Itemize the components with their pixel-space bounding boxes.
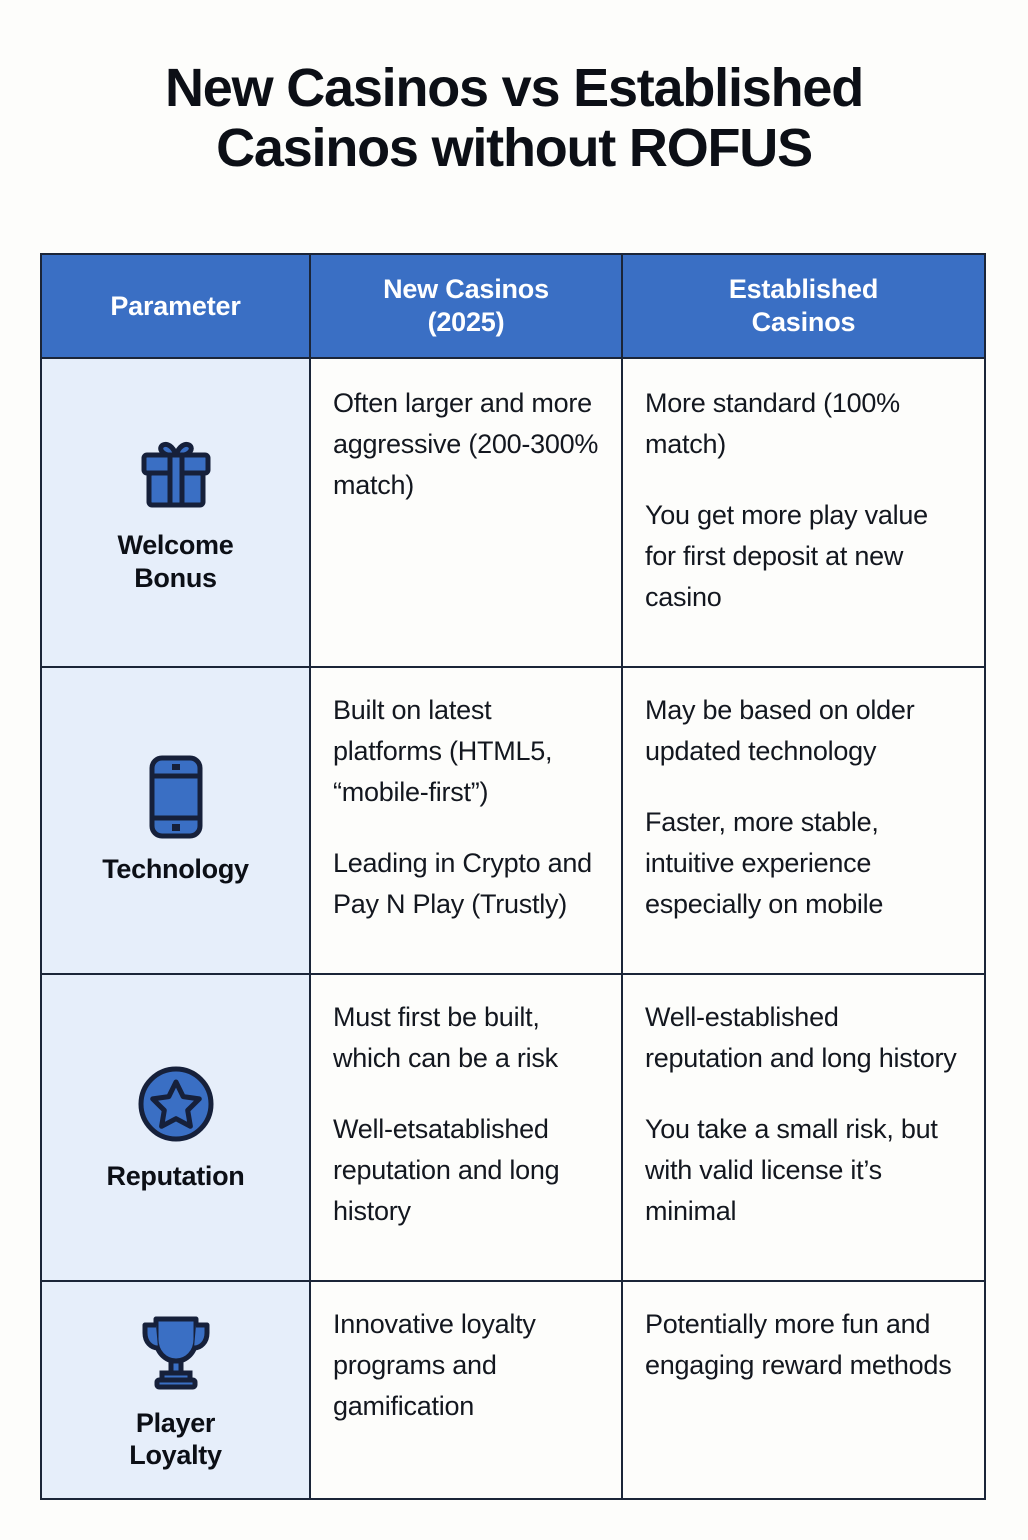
column-header-new-casinos: New Casinos (2025)	[310, 255, 622, 358]
cell-paragraph: Must first be built, which can be a risk	[333, 997, 599, 1079]
new-casinos-cell-player-loyalty: Innovative loyalty programs and gamifica…	[310, 1281, 622, 1498]
column-header-new-casinos-line-1: New Casinos	[321, 273, 611, 306]
parameter-label: Player Loyalty	[129, 1407, 221, 1472]
cell-paragraph: You take a small risk, but with valid li…	[645, 1109, 962, 1232]
cell-paragraph: Often larger and more aggressive (200-30…	[333, 383, 599, 506]
cell-paragraph: Faster, more stable, intuitive experienc…	[645, 802, 962, 925]
column-header-established-line-1: Established	[633, 273, 974, 306]
table-row: Reputation Must first be built, which ca…	[42, 974, 984, 1281]
cell-paragraph: Potentially more fun and engaging reward…	[645, 1304, 962, 1386]
page-title: New Casinos vs Established Casinos witho…	[0, 0, 1028, 179]
established-casinos-cell-reputation: Well-established reputation and long his…	[622, 974, 984, 1281]
column-header-parameter-label: Parameter	[52, 290, 299, 323]
cell-paragraph: You get more play value for first deposi…	[645, 495, 962, 618]
established-casinos-cell-player-loyalty: Potentially more fun and engaging reward…	[622, 1281, 984, 1498]
cell-paragraph: May be based on older updated technology	[645, 690, 962, 772]
new-casinos-cell-reputation: Must first be built, which can be a risk…	[310, 974, 622, 1281]
parameter-label: Welcome Bonus	[118, 529, 234, 594]
parameter-label: Reputation	[107, 1160, 245, 1192]
table-header: Parameter New Casinos (2025) Established…	[42, 255, 984, 358]
column-header-established-casinos: Established Casinos	[622, 255, 984, 358]
cell-paragraph: More standard (100% match)	[645, 383, 962, 465]
new-casinos-cell-technology: Built on latest platforms (HTML5, “mobil…	[310, 667, 622, 974]
established-casinos-cell-technology: May be based on older updated technology…	[622, 667, 984, 974]
parameter-label-line-1: Technology	[102, 854, 249, 884]
new-casinos-cell-welcome-bonus: Often larger and more aggressive (200-30…	[310, 358, 622, 667]
table-row: Technology Built on latest platforms (HT…	[42, 667, 984, 974]
column-header-established-line-2: Casinos	[633, 306, 974, 339]
mobile-phone-icon	[134, 755, 218, 839]
parameter-label-line-1: Welcome	[118, 530, 234, 560]
parameter-label-line-2: Loyalty	[129, 1440, 221, 1470]
table-body: Welcome Bonus Often larger and more aggr…	[42, 358, 984, 1498]
infographic-page: New Casinos vs Established Casinos witho…	[0, 0, 1028, 1540]
star-badge-icon	[134, 1062, 218, 1146]
comparison-table-container: Parameter New Casinos (2025) Established…	[40, 253, 986, 1500]
parameter-label-line-2: Bonus	[134, 563, 217, 593]
table-row: Player Loyalty Innovative loyalty progra…	[42, 1281, 984, 1498]
parameter-label-line-1: Reputation	[107, 1161, 245, 1191]
cell-paragraph: Well-established reputation and long his…	[645, 997, 962, 1079]
parameter-cell-technology: Technology	[42, 667, 310, 974]
parameter-label-line-1: Player	[136, 1408, 215, 1438]
column-header-parameter: Parameter	[42, 255, 310, 358]
parameter-cell-welcome-bonus: Welcome Bonus	[42, 358, 310, 667]
page-title-line-2: Casinos without ROFUS	[62, 118, 966, 178]
cell-paragraph: Built on latest platforms (HTML5, “mobil…	[333, 690, 599, 813]
table-row: Welcome Bonus Often larger and more aggr…	[42, 358, 984, 667]
table-header-row: Parameter New Casinos (2025) Established…	[42, 255, 984, 358]
trophy-icon	[134, 1309, 218, 1393]
parameter-cell-player-loyalty: Player Loyalty	[42, 1281, 310, 1498]
comparison-table: Parameter New Casinos (2025) Established…	[42, 255, 984, 1498]
column-header-new-casinos-line-2: (2025)	[321, 306, 611, 339]
parameter-cell-reputation: Reputation	[42, 974, 310, 1281]
established-casinos-cell-welcome-bonus: More standard (100% match) You get more …	[622, 358, 984, 667]
cell-paragraph: Innovative loyalty programs and gamifica…	[333, 1304, 599, 1427]
cell-paragraph: Leading in Crypto and Pay N Play (Trustl…	[333, 843, 599, 925]
cell-paragraph: Well-etsatablished reputation and long h…	[333, 1109, 599, 1232]
gift-icon	[134, 431, 218, 515]
page-title-line-1: New Casinos vs Established	[62, 58, 966, 118]
parameter-label: Technology	[102, 853, 249, 885]
